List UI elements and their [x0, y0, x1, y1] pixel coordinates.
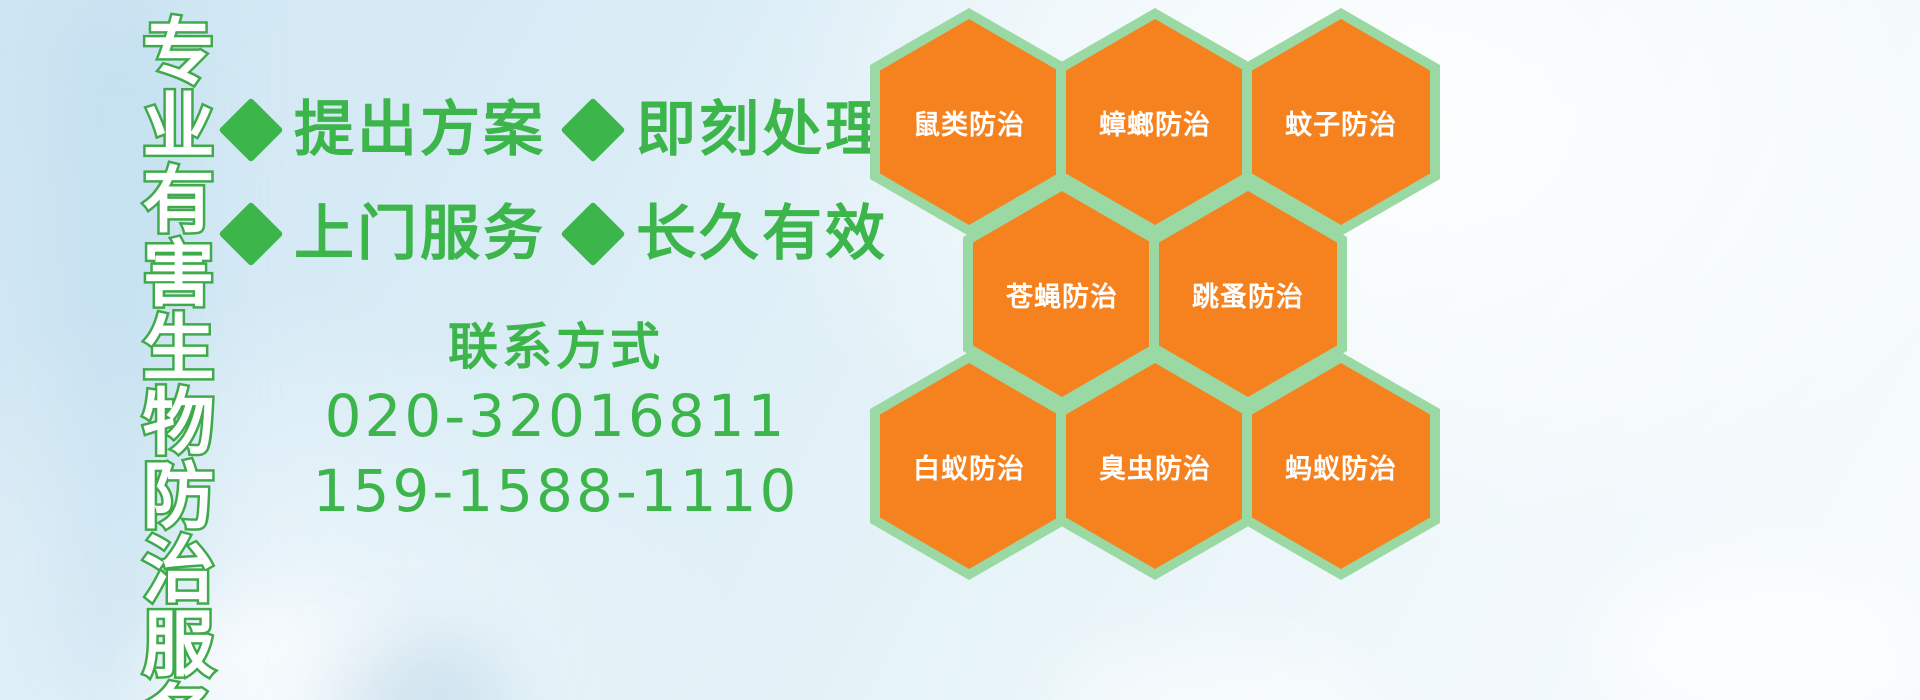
hexagon-inner: 蟑螂防治 — [1066, 19, 1244, 225]
phone-number-mobile[interactable]: 159-1588-1110 — [236, 454, 876, 529]
hexagon-label: 蚊子防治 — [1285, 103, 1397, 142]
background-blur-bottom-right — [1600, 560, 1920, 700]
feature-item-propose-plan: 提出方案 — [228, 100, 570, 160]
vertical-headline: 专业有害生物防治服务 — [108, 14, 208, 674]
background-blur-bottom-left-2 — [330, 640, 510, 700]
phone-number-landline[interactable]: 020-32016811 — [236, 379, 876, 454]
hexagon-label: 鼠类防治 — [913, 103, 1025, 142]
hexagon-inner: 蚂蚁防治 — [1252, 363, 1430, 569]
hexagon-inner: 臭虫防治 — [1066, 363, 1244, 569]
diamond-bullet-icon — [560, 201, 625, 266]
feature-label: 长久有效 — [636, 204, 888, 264]
service-hexagon-grid: 鼠类防治 蟑螂防治 蚊子防治 苍蝇防治 跳蚤防治 白蚁防治 — [860, 0, 1480, 580]
hexagon-inner: 苍蝇防治 — [973, 191, 1151, 397]
hexagon-inner: 蚊子防治 — [1252, 19, 1430, 225]
hexagon-label: 蚂蚁防治 — [1285, 447, 1397, 486]
hexagon-label: 蟑螂防治 — [1099, 103, 1211, 142]
background-blur-bottom-center — [1050, 640, 1390, 700]
diamond-bullet-icon — [560, 97, 625, 162]
diamond-bullet-icon — [218, 97, 283, 162]
feature-label: 即刻处理 — [636, 100, 888, 160]
feature-row: 上门服务 长久有效 — [228, 182, 868, 286]
feature-label: 上门服务 — [294, 204, 546, 264]
hexagon-inner: 跳蚤防治 — [1159, 191, 1337, 397]
contact-title: 联系方式 — [236, 316, 876, 379]
hexagon-inner: 白蚁防治 — [880, 363, 1058, 569]
pest-control-banner: 专业有害生物防治服务 提出方案 即刻处理 上门服务 长久有效 联 — [0, 0, 1920, 700]
hexagon-label: 臭虫防治 — [1099, 447, 1211, 486]
hexagon-label: 跳蚤防治 — [1192, 275, 1304, 314]
hexagon-inner: 鼠类防治 — [880, 19, 1058, 225]
feature-list: 提出方案 即刻处理 上门服务 长久有效 — [228, 78, 868, 286]
diamond-bullet-icon — [218, 201, 283, 266]
hexagon-label: 白蚁防治 — [913, 447, 1025, 486]
feature-label: 提出方案 — [294, 100, 546, 160]
feature-item-door-to-door-service: 上门服务 — [228, 204, 570, 264]
contact-block: 联系方式 020-32016811 159-1588-1110 — [236, 316, 876, 529]
hexagon-label: 苍蝇防治 — [1006, 275, 1118, 314]
feature-row: 提出方案 即刻处理 — [228, 78, 868, 182]
